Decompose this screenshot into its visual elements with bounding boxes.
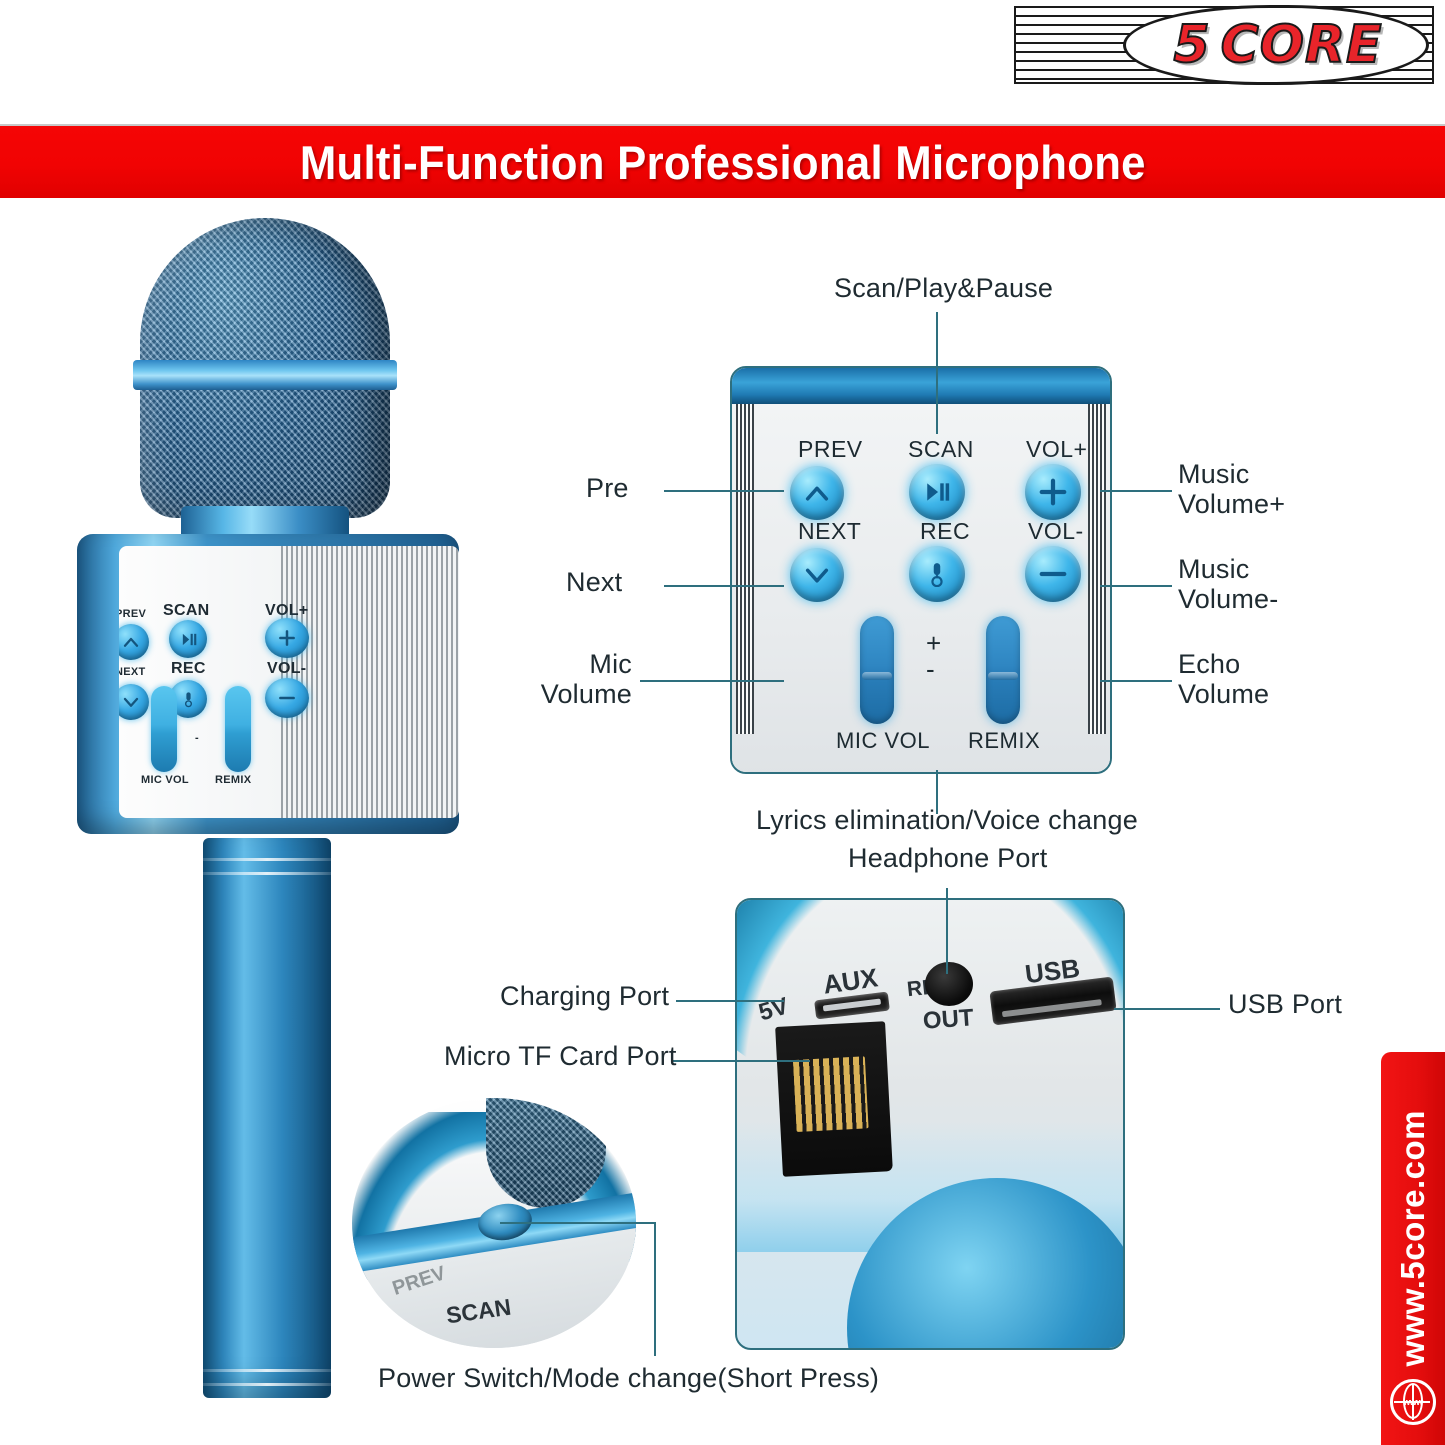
tf-card-pins	[793, 1056, 869, 1132]
lead-echovol	[1100, 680, 1172, 682]
panel-slider-remix[interactable]	[986, 616, 1020, 724]
panel-button-voldown[interactable]	[1025, 546, 1081, 602]
lead-usb-port	[1114, 1008, 1220, 1010]
slider-scale-plus: +	[926, 630, 941, 656]
photo-label-prev: PREV	[119, 608, 146, 620]
panel-label-rec: REC	[920, 518, 970, 545]
callout-charging-port: Charging Port	[500, 982, 669, 1012]
globe-www-text: www	[1403, 1397, 1423, 1407]
panel-button-scan[interactable]	[909, 464, 965, 520]
photo-label-remix: REMIX	[215, 774, 251, 786]
speaker-grille	[281, 546, 459, 818]
website-url: www.5core.com	[1394, 1110, 1432, 1367]
photo-button-volup	[265, 618, 309, 658]
photo-button-voldown	[265, 678, 309, 718]
microphone-control-face: PREV SCAN VOL+ NEXT REC VOL- MIC VOL REM…	[119, 546, 459, 818]
logo-wordmark: 5 CORE	[1132, 10, 1424, 80]
page-title: Multi-Function Professional Microphone	[300, 135, 1146, 190]
lead-next	[664, 585, 784, 587]
panel-label-prev: PREV	[798, 436, 863, 463]
panel-button-rec[interactable]	[909, 546, 965, 602]
ports-panel-diagram: AUX 5V REC OUT USB	[735, 898, 1125, 1350]
panel-button-prev[interactable]	[790, 466, 844, 520]
callout-echo-volume: Echo Volume	[1178, 650, 1269, 709]
callout-usb-port: USB Port	[1228, 990, 1342, 1020]
lead-headphone-vertical	[946, 888, 948, 974]
port-label-out: OUT	[922, 1004, 975, 1035]
photo-label-rec: REC	[171, 660, 206, 678]
callout-scan-play-pause: Scan/Play&Pause	[834, 274, 1053, 304]
callout-music-volume-plus: Music Volume+	[1178, 460, 1285, 519]
panel-label-scan: SCAN	[908, 436, 974, 463]
panel-label-remix: REMIX	[968, 728, 1040, 754]
callout-micro-tf-card-port: Micro TF Card Port	[444, 1042, 677, 1072]
lead-power-switch-v	[654, 1222, 656, 1356]
callout-headphone-port: Headphone Port	[848, 844, 1047, 874]
photo-label-micvol: MIC VOL	[141, 774, 189, 786]
lead-scan-vertical	[936, 312, 938, 434]
panel-button-next[interactable]	[790, 548, 844, 602]
photo-button-prev	[119, 624, 149, 660]
panel-top-bezel	[732, 368, 1110, 404]
panel-slider-micvol[interactable]	[860, 616, 894, 724]
photo-slider-micvol	[151, 686, 177, 772]
photo-label-scan: SCAN	[163, 602, 210, 620]
lead-musicvoldown	[1100, 585, 1172, 587]
lead-micvol	[640, 680, 784, 682]
panel-label-micvol: MIC VOL	[836, 728, 930, 754]
lead-power-switch-h	[500, 1222, 656, 1224]
photo-label-voldown: VOL-	[267, 660, 306, 678]
infographic-page: 5 CORE Multi-Function Professional Micro…	[0, 0, 1445, 1445]
photo-label-minus: -	[195, 732, 199, 744]
callout-pre: Pre	[586, 474, 629, 504]
callout-mic-volume: Mic Volume	[528, 650, 632, 709]
lead-tf-card-port	[672, 1060, 810, 1062]
headphone-jack-hole	[925, 962, 973, 1006]
microphone-head-band	[133, 360, 397, 390]
microphone-handle	[203, 838, 331, 1398]
micro-tf-card	[775, 1021, 893, 1177]
globe-icon: www	[1390, 1379, 1436, 1425]
microphone-speaker-body: PREV SCAN VOL+ NEXT REC VOL- MIC VOL REM…	[77, 534, 459, 834]
logo-digit: 5	[1173, 15, 1210, 75]
slider-scale-minus: -	[926, 656, 935, 682]
panel-label-voldown: VOL-	[1028, 518, 1084, 545]
panel-label-next: NEXT	[798, 518, 861, 545]
lead-charging-port	[676, 1000, 784, 1002]
website-tab[interactable]: www www.5core.com	[1381, 1052, 1445, 1445]
headline-banner: Multi-Function Professional Microphone	[0, 124, 1445, 198]
brand-logo: 5 CORE	[1014, 6, 1434, 84]
lead-pre	[664, 490, 784, 492]
panel-mesh-right	[1088, 404, 1106, 734]
logo-word: CORE	[1221, 15, 1383, 75]
photo-label-next: NEXT	[119, 666, 146, 678]
panel-mesh-left	[736, 404, 754, 734]
callout-music-volume-minus: Music Volume-	[1178, 555, 1278, 614]
callout-lyrics-voice-change: Lyrics elimination/Voice change	[756, 806, 1138, 836]
panel-label-volup: VOL+	[1026, 436, 1087, 463]
callout-next: Next	[566, 568, 622, 598]
control-panel-diagram: PREV SCAN VOL+ NEXT REC VOL- MIC VOL	[730, 366, 1112, 774]
panel-button-volup[interactable]	[1025, 464, 1081, 520]
photo-slider-remix	[225, 686, 251, 772]
photo-button-scan	[169, 620, 207, 658]
photo-button-next	[119, 684, 149, 720]
callout-power-switch: Power Switch/Mode change(Short Press)	[378, 1364, 879, 1394]
lead-musicvolup	[1100, 490, 1172, 492]
